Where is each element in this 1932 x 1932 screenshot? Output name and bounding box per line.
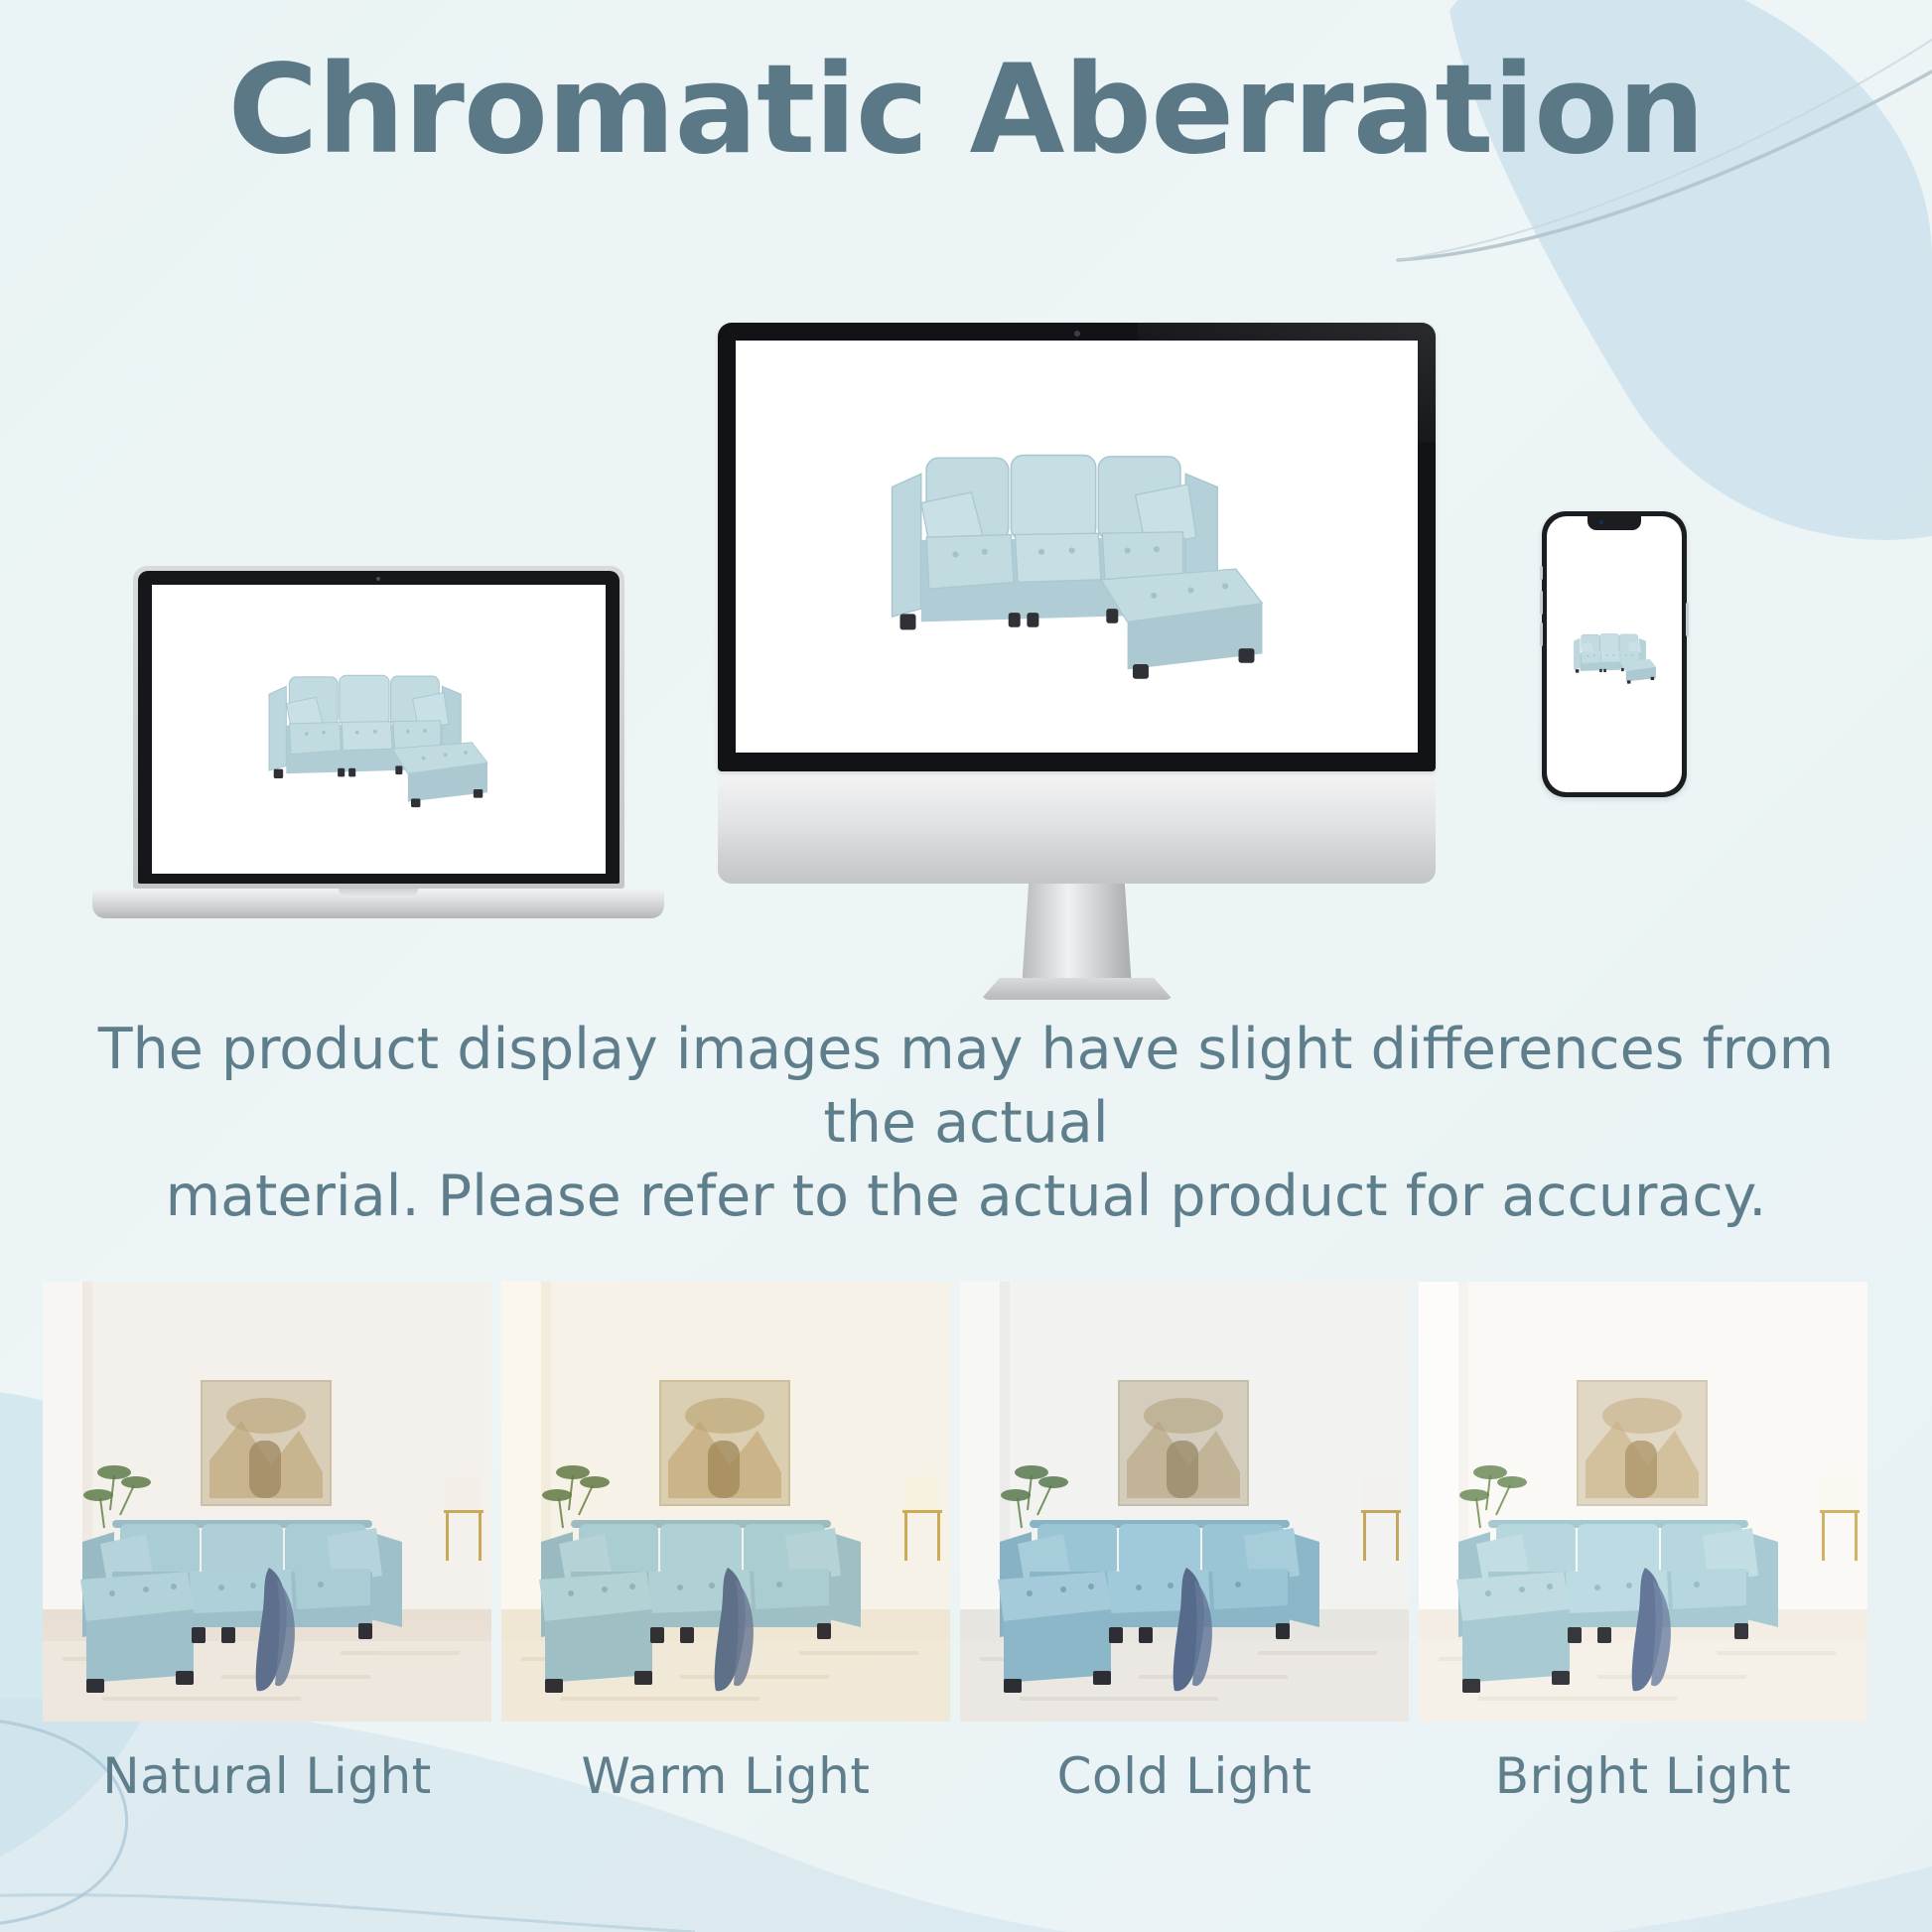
webcam-icon bbox=[376, 577, 380, 581]
monitor-screen bbox=[736, 341, 1418, 753]
lighting-sample-warm[interactable] bbox=[501, 1282, 950, 1722]
lighting-sample-grid bbox=[43, 1282, 1889, 1722]
monitor-device bbox=[718, 323, 1436, 884]
laptop-device bbox=[92, 566, 664, 918]
room-scene-bright bbox=[1419, 1282, 1867, 1722]
phone-device bbox=[1542, 511, 1687, 797]
disclaimer-text: The product display images may have slig… bbox=[92, 1013, 1840, 1233]
laptop-base bbox=[92, 889, 664, 918]
lighting-label-cold: Cold Light bbox=[960, 1747, 1409, 1827]
lighting-sample-bright[interactable] bbox=[1419, 1282, 1867, 1722]
phone-volume-up-button[interactable] bbox=[1540, 591, 1543, 615]
phone-screen bbox=[1547, 516, 1682, 792]
monitor-stand-neck bbox=[1023, 884, 1132, 981]
phone-power-button[interactable] bbox=[1686, 603, 1689, 636]
page-title: Chromatic Aberration bbox=[0, 40, 1932, 182]
disclaimer-line-1: The product display images may have slig… bbox=[92, 1013, 1840, 1160]
disclaimer-line-2: material. Please refer to the actual pro… bbox=[92, 1160, 1840, 1233]
laptop-trackpad-notch bbox=[339, 889, 418, 897]
sofa-image-phone bbox=[1553, 618, 1677, 691]
lighting-label-warm: Warm Light bbox=[501, 1747, 950, 1827]
monitor-chin bbox=[718, 771, 1436, 884]
sofa-image-monitor bbox=[799, 381, 1355, 712]
room-scene-warm bbox=[501, 1282, 950, 1722]
front-camera-icon bbox=[1599, 520, 1603, 524]
room-scene-cold bbox=[960, 1282, 1409, 1722]
lighting-label-bright: Bright Light bbox=[1419, 1747, 1867, 1827]
webcam-icon bbox=[1074, 331, 1080, 337]
lighting-sample-cold[interactable] bbox=[960, 1282, 1409, 1722]
lighting-labels: Natural Light Warm Light Cold Light Brig… bbox=[43, 1747, 1889, 1827]
phone-silent-switch[interactable] bbox=[1540, 566, 1543, 580]
device-showcase bbox=[0, 298, 1932, 993]
monitor-bezel bbox=[718, 323, 1436, 771]
phone-volume-down-button[interactable] bbox=[1540, 622, 1543, 646]
room-scene-natural bbox=[43, 1282, 491, 1722]
laptop-bezel bbox=[138, 571, 620, 884]
sofa-image-laptop bbox=[214, 631, 542, 827]
lighting-sample-natural[interactable] bbox=[43, 1282, 491, 1722]
monitor-stand-foot bbox=[981, 978, 1173, 1000]
laptop-screen bbox=[152, 585, 606, 874]
lighting-label-natural: Natural Light bbox=[43, 1747, 491, 1827]
laptop-lid bbox=[133, 566, 624, 889]
phone-body bbox=[1542, 511, 1687, 797]
phone-notch bbox=[1587, 516, 1641, 530]
decor-outline-bottom-left-2 bbox=[0, 1895, 695, 1932]
